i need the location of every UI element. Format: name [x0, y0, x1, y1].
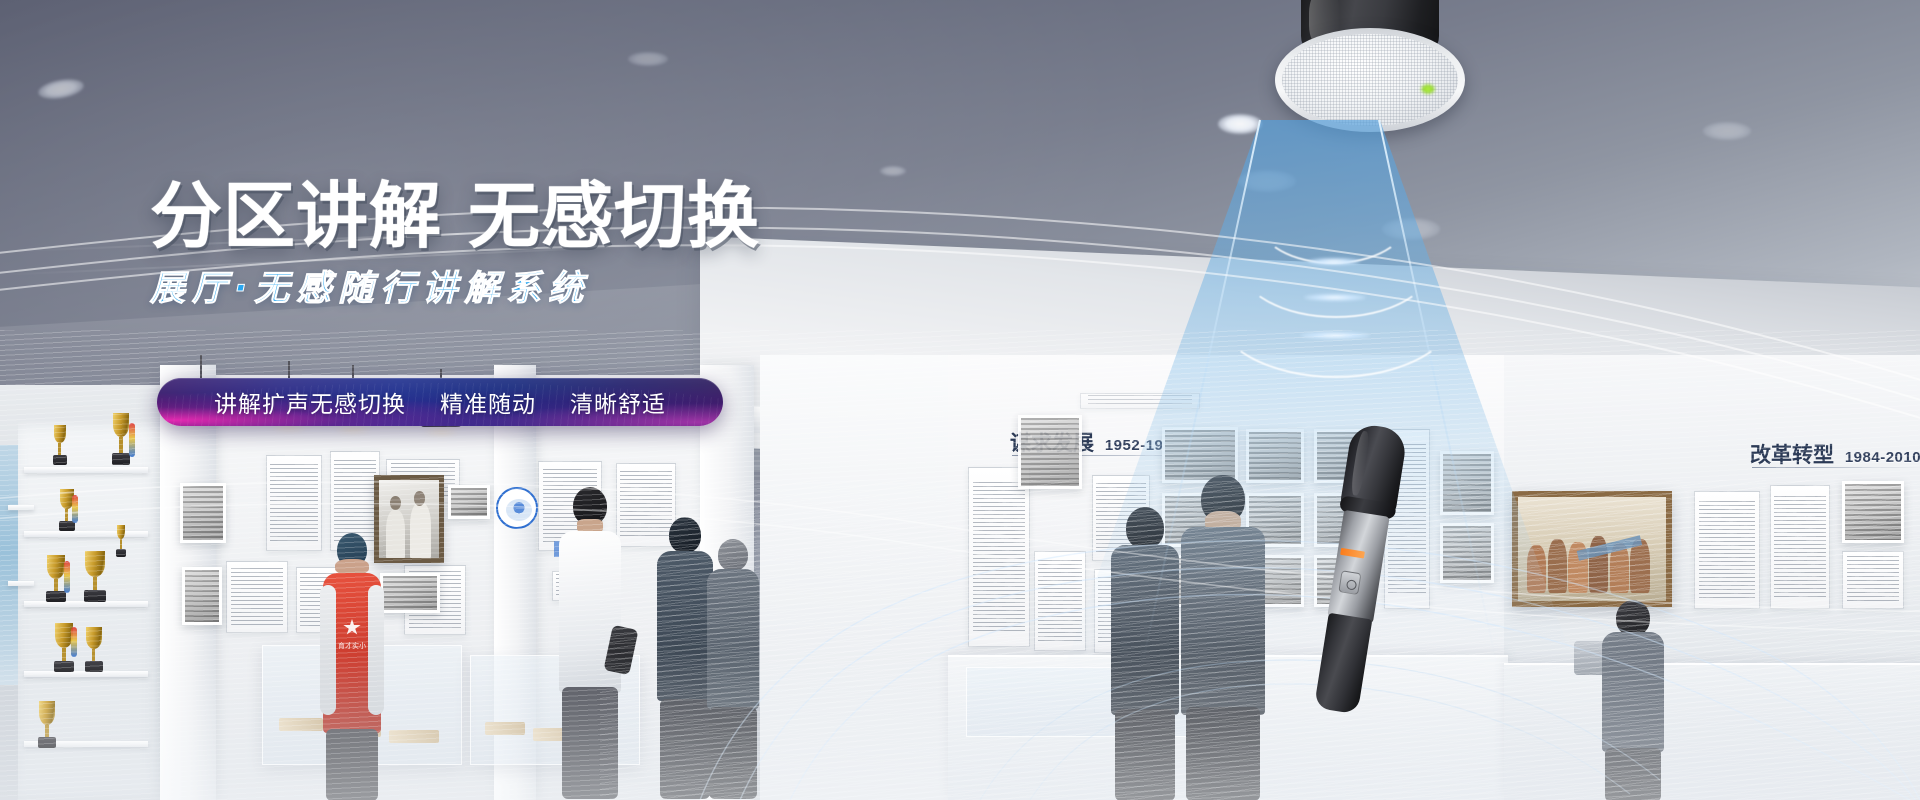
trophy	[52, 623, 76, 673]
trophy	[44, 555, 68, 603]
feature-item-3: 清晰舒适	[570, 385, 666, 419]
exhibit-photo	[1842, 481, 1904, 543]
visitor	[1600, 600, 1666, 800]
exhibit-text-panel	[1842, 551, 1904, 609]
trophy	[36, 701, 58, 749]
section-title-text: 改革转型	[1750, 444, 1834, 467]
exhibit-text-panel	[1694, 491, 1760, 609]
headline-subtitle: 展厅·无感随行讲解系统	[150, 260, 850, 311]
microphone-power-button[interactable]	[1338, 570, 1361, 595]
trophy	[110, 413, 132, 467]
shelf	[8, 581, 34, 586]
shelf	[24, 531, 148, 537]
exhibit-photo	[448, 485, 490, 519]
feature-item-1: 讲解扩声无感切换	[214, 385, 406, 419]
headline-part-2: 无感切换	[468, 174, 760, 258]
exhibit-text-panel	[968, 467, 1030, 647]
sound-wave-glow	[1308, 258, 1360, 265]
visitor: 育才实小	[322, 533, 382, 800]
sound-wave-glow	[1300, 332, 1370, 339]
sound-wave-glow	[1304, 294, 1366, 301]
speaker-led-indicator	[1421, 84, 1435, 94]
exhibit-text-panel	[226, 561, 288, 633]
exhibit-photo	[180, 483, 226, 543]
shelf	[24, 467, 148, 473]
feature-pill-banner: 讲解扩声无感切换 精准随动 清晰舒适	[157, 378, 723, 426]
trophy	[58, 489, 76, 533]
microphone-body	[1327, 510, 1389, 624]
visitor	[706, 539, 760, 800]
section-underline	[1752, 467, 1920, 468]
ceiling-downlight	[628, 52, 668, 66]
main-headline: 分区讲解无感切换	[150, 178, 850, 254]
feature-item-2: 精准随动	[440, 385, 536, 419]
wall-section-title-2: 改革转型 1984-2010	[1750, 439, 1920, 469]
section-years-text: 1984-2010	[1845, 449, 1920, 466]
exhibit-photo	[182, 567, 222, 625]
school-emblem	[496, 487, 538, 529]
ceiling-downlight	[1703, 122, 1751, 140]
exhibit-text-panel	[266, 455, 322, 551]
corner-wall	[760, 355, 950, 800]
exhibit-counter	[1504, 663, 1920, 800]
headline-part-1: 分区讲解	[150, 174, 442, 258]
headline-block: 分区讲解无感切换 展厅·无感随行讲解系统	[150, 178, 850, 311]
promo-banner: 育才实小 谋求发展 1952-	[0, 0, 1920, 800]
visitor	[558, 487, 622, 800]
trophy	[52, 425, 68, 467]
speaker-grille	[1282, 34, 1458, 126]
trophy	[82, 551, 108, 603]
exhibit-text-panel	[1770, 485, 1830, 609]
framed-portrait	[374, 475, 444, 563]
trophy	[84, 627, 104, 673]
shelf	[8, 505, 34, 510]
trophy	[116, 525, 126, 559]
microphone-handle	[1314, 613, 1372, 715]
exhibit-photo	[380, 573, 440, 613]
feature-pill-items: 讲解扩声无感切换 精准随动 清晰舒适	[214, 385, 666, 419]
exhibit-photo	[1018, 415, 1082, 489]
ceiling-downlight	[880, 166, 906, 176]
